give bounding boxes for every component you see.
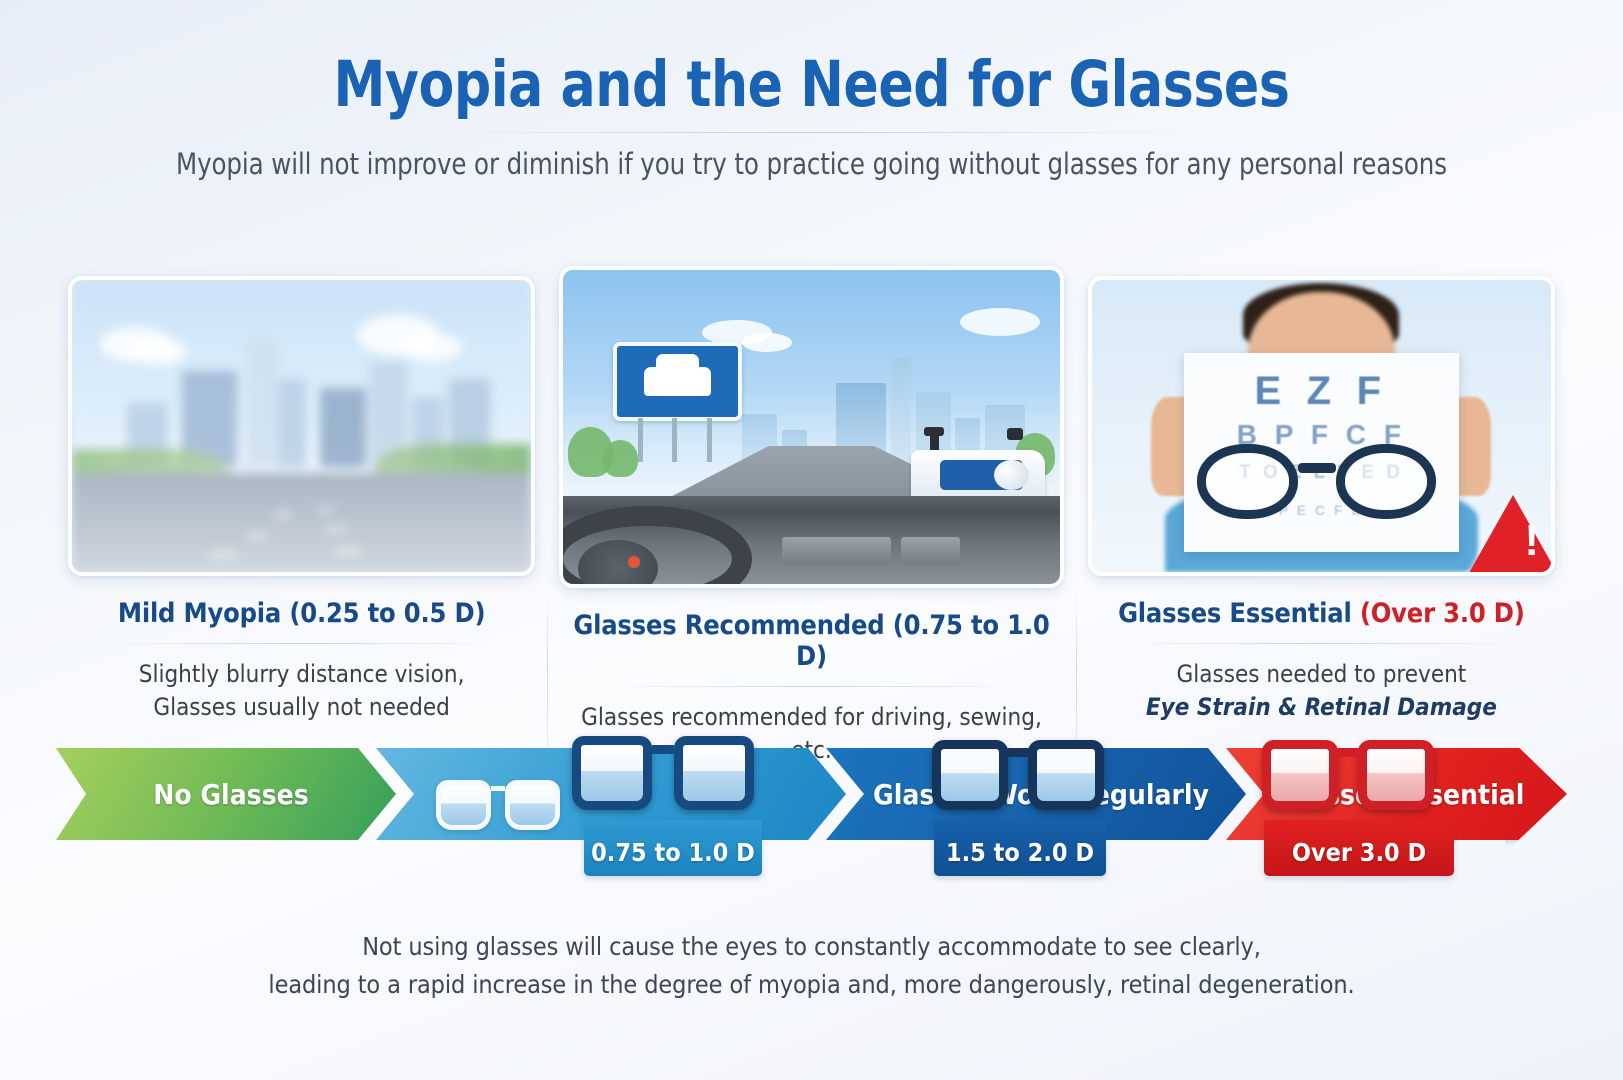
page-subtitle: Myopia will not improve or diminish if y…	[49, 147, 1575, 181]
driving-scene-image	[559, 266, 1064, 588]
myopia-stage-cards: Mild Myopia (0.25 to 0.5 D) Slightly blu…	[56, 276, 1567, 767]
spectrum-badge-label: Over 3.0 D	[1292, 838, 1426, 867]
card-heading-main: Glasses Essential	[1118, 598, 1360, 629]
card-heading-main: Glasses Recommended (0.75 to 1.0 D)	[573, 610, 1049, 672]
card-glasses-essential: E Z F B P F C F T O Z L P E D P E C F D …	[1076, 276, 1567, 767]
spectrum-segment-label: No Glasses	[143, 778, 309, 811]
card-body: Slightly blurry distance vision, Glasses…	[68, 658, 535, 724]
card-divider	[1120, 643, 1522, 644]
blurred-road-cityscape-image	[68, 276, 535, 576]
speedometer-icon	[578, 540, 657, 588]
spectrum-badge-over-3-0: Over 3.0 D	[1264, 820, 1454, 876]
spectrum-badge-1-5-to-2-0: 1.5 to 2.0 D	[934, 820, 1106, 876]
card-heading: Glasses Essential (Over 3.0 D)	[1088, 598, 1555, 629]
card-heading-main: Mild Myopia (0.25 to 0.5 D)	[118, 598, 486, 629]
card-body: Glasses needed to prevent Eye Strain & R…	[1088, 658, 1555, 724]
card-mild-myopia: Mild Myopia (0.25 to 0.5 D) Slightly blu…	[56, 276, 547, 767]
card-body-line1: Slightly blurry distance vision,	[68, 658, 535, 691]
footer-line-2: leading to a rapid increase in the degre…	[0, 966, 1623, 1004]
glasses-overlay-icon	[1197, 444, 1436, 520]
card-glasses-recommended: Glasses Recommended (0.75 to 1.0 D) Glas…	[547, 276, 1076, 767]
card-heading: Glasses Recommended (0.75 to 1.0 D)	[559, 610, 1064, 672]
spectrum-segment-no-glasses[interactable]: No Glasses	[56, 748, 396, 840]
card-body-line1: Glasses needed to prevent	[1088, 658, 1555, 691]
card-heading: Mild Myopia (0.25 to 0.5 D)	[68, 598, 535, 629]
footer-note: Not using glasses will cause the eyes to…	[0, 928, 1623, 1004]
card-heading-accent: (Over 3.0 D)	[1360, 598, 1525, 629]
card-body-line2: Glasses usually not needed	[68, 691, 535, 724]
card-divider	[101, 643, 503, 644]
eye-chart-row-1: E Z F	[1184, 369, 1460, 414]
page-title: Myopia and the Need for Glasses	[65, 52, 1558, 118]
card-body-line2: Eye Strain & Retinal Damage	[1088, 691, 1555, 724]
spectrum-segment-label: Glasses Worn Regularly	[863, 778, 1209, 811]
infographic-header: Myopia and the Need for Glasses Myopia w…	[0, 0, 1623, 181]
warning-exclamation-icon: !	[1524, 516, 1539, 566]
spectrum-badge-0-75-to-1-0: 0.75 to 1.0 D	[584, 820, 762, 876]
eye-chart-image: E Z F B P F C F T O Z L P E D P E C F D …	[1088, 276, 1555, 576]
spectrum-segment-label: Glasses Essential	[1269, 778, 1525, 811]
spectrum-badge-label: 0.75 to 1.0 D	[591, 838, 755, 867]
warning-triangle-icon	[1461, 495, 1555, 576]
title-divider	[432, 132, 1192, 133]
car-glyph-icon	[644, 367, 712, 397]
road-sign-icon	[613, 342, 742, 421]
spectrum-badge-label: 1.5 to 2.0 D	[946, 838, 1094, 867]
myopia-progression-spectrum: No Glasses 0.75 to 1.0 D Glasses Worn Re…	[56, 748, 1567, 884]
footer-line-1: Not using glasses will cause the eyes to…	[0, 928, 1623, 966]
card-divider	[595, 686, 1029, 687]
